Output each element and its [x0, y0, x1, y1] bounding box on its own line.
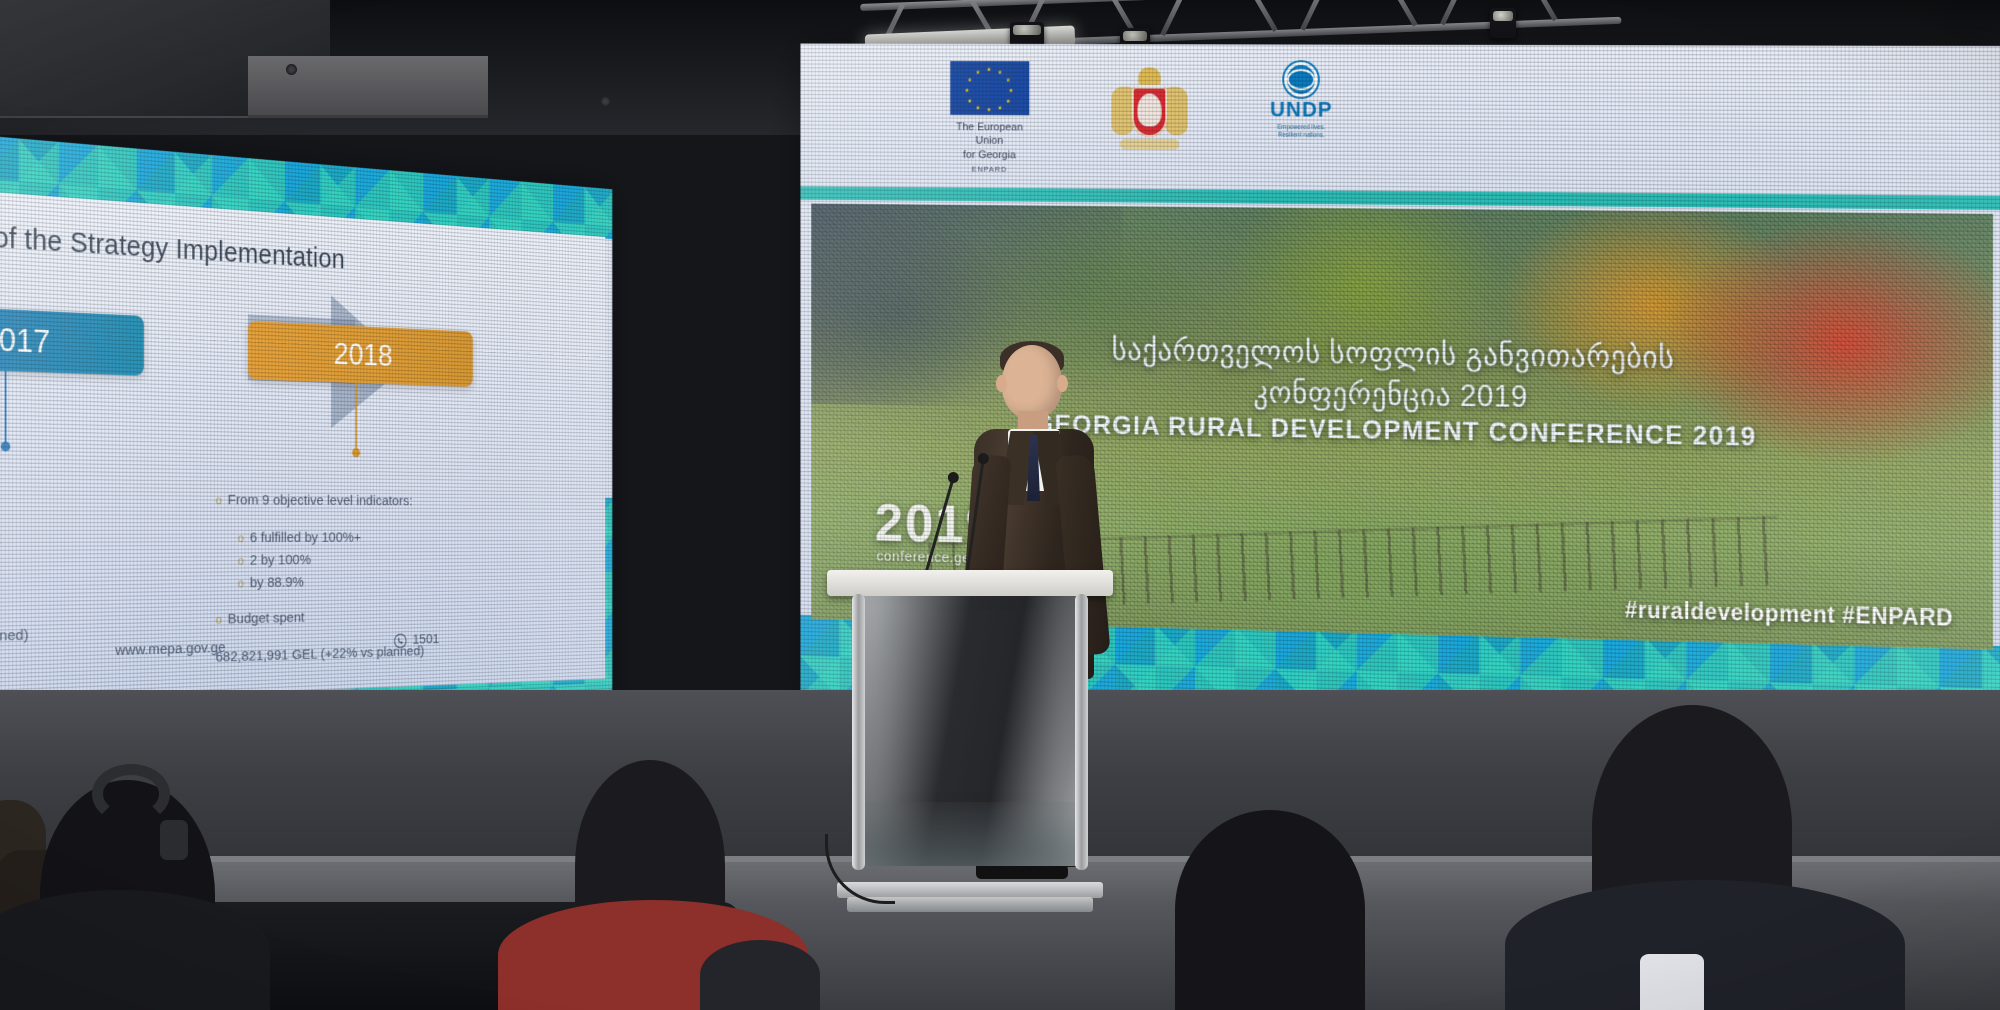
eu-caption-line2: for Georgia	[963, 149, 1016, 161]
slide-left-column-2018: From 9 objective level indicators: 6 ful…	[216, 489, 482, 669]
year-chip-2018-label: 2018	[334, 336, 393, 373]
headset-icon	[92, 764, 170, 824]
slide-left-hotline: 1501	[394, 631, 440, 649]
slide-left-title: ults of the Strategy Implementation	[0, 219, 534, 288]
eu-flag-logo: The European Union for Georgia ENPARD	[946, 61, 1033, 175]
georgia-coat-of-arms-logo	[1107, 62, 1192, 169]
podium-lectern	[845, 570, 1095, 920]
slide-left-website: www.mepa.gov.ge	[115, 640, 225, 660]
column-2018-budget-value: 682,821,991 GEL (+22% vs planned)	[216, 639, 482, 669]
headset-earcup	[160, 820, 188, 860]
podium-body-panel	[857, 596, 1083, 866]
podium-top-surface	[827, 570, 1113, 596]
logo-row: The European Union for Georgia ENPARD UN	[946, 61, 1336, 169]
speaker-head	[1002, 345, 1062, 419]
column-2017-item: lled.	[0, 573, 144, 601]
undp-globe-icon	[1284, 62, 1318, 97]
connector-pin-2018	[355, 383, 357, 453]
eu-flag-icon	[950, 61, 1029, 115]
column-2018-item: 6 fulfilled by 100%+	[238, 527, 482, 550]
column-2018-item: 2 by 100%	[238, 548, 482, 572]
hotline-number: 1501	[413, 631, 440, 648]
year-chip-2017: 2017	[0, 303, 144, 375]
podium-rail-right	[1075, 594, 1088, 870]
slide-left-card: ults of the Strategy Implementation 2017…	[0, 189, 605, 704]
audience-head	[1175, 810, 1365, 1010]
year-chip-2017-label: 2017	[0, 320, 50, 361]
eu-caption-enpard: ENPARD	[946, 165, 1033, 175]
motto-ribbon	[1120, 139, 1179, 150]
undp-logo: UNDP Empowered lives. Resilient nations.	[1267, 62, 1336, 140]
conference-website: conference.ge	[877, 548, 971, 566]
column-2017-item: d partially;	[0, 550, 144, 576]
podium-rail-left	[852, 594, 865, 870]
undp-tagline: Empowered lives. Resilient nations.	[1267, 124, 1336, 140]
column-2018-lead: From 9 objective level indicators:	[216, 489, 482, 513]
saint-george-horse-icon	[1138, 93, 1162, 126]
phone-icon	[394, 633, 407, 649]
undp-letters: UNDP	[1267, 100, 1336, 121]
column-2018-item: by 88.9%	[238, 570, 482, 595]
column-2017-item: d by 100% or 100%+;	[0, 527, 144, 552]
audience-collar-shirt	[1640, 954, 1704, 1010]
column-2017-lead: level indicators:	[0, 486, 144, 512]
audience-head-partial	[700, 940, 820, 1010]
audience-shoulders	[0, 890, 270, 1010]
lion-supporter-right-icon	[1165, 87, 1187, 135]
column-2018-budget-label: Budget spent	[216, 604, 482, 632]
speaker-ear-right	[1057, 375, 1068, 392]
connector-pin-2017	[5, 371, 7, 447]
speaker-ear-left	[996, 375, 1007, 392]
slide-left-column-2017: level indicators: d by 100% or 100%+; d …	[0, 486, 144, 653]
year-chip-2018: 2018	[248, 321, 473, 387]
presentation-slide-left: ults of the Strategy Implementation 2017…	[0, 135, 612, 735]
eu-logo-caption: The European Union for Georgia ENPARD	[946, 120, 1033, 174]
eu-caption-line1: The European Union	[956, 121, 1023, 147]
audience-shoulders	[1505, 880, 1905, 1010]
conference-hall-scene: ults of the Strategy Implementation 2017…	[0, 0, 2000, 1010]
lion-supporter-left-icon	[1112, 87, 1134, 135]
crown-icon	[1139, 67, 1161, 84]
